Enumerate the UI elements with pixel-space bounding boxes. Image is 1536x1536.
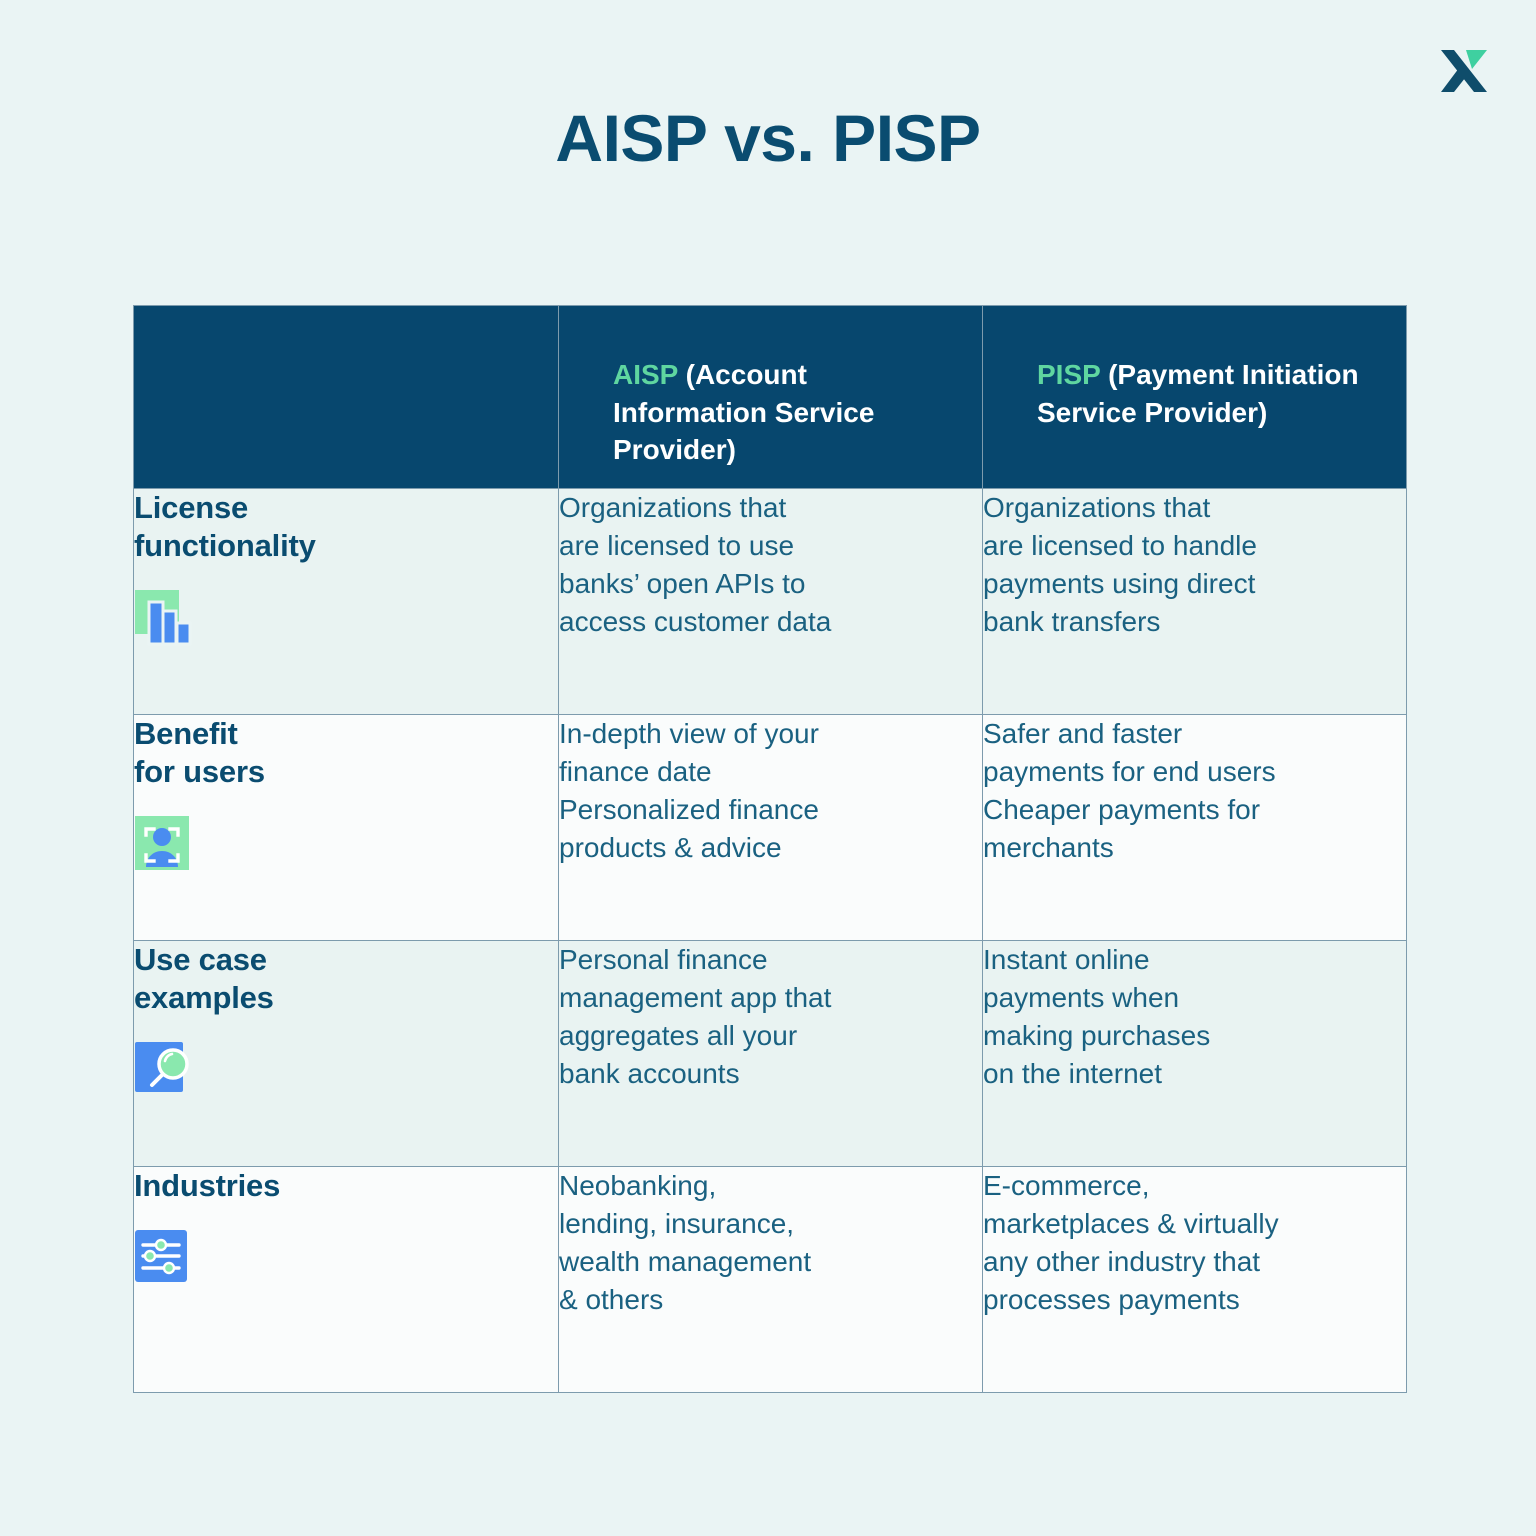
sliders-icon [134,1227,196,1289]
row-pisp-cell: Organizations that are licensed to handl… [983,489,1407,715]
page-title: AISP vs. PISP [0,104,1536,173]
row-pisp-text: Instant online payments when making purc… [983,941,1406,1093]
row-label: Use case examples [134,941,558,1017]
table-header: AISP (Account Information Service Provid… [134,306,1407,489]
row-label-cell: Use case examples [134,941,559,1167]
table-row: Use case examples Personal finance manag… [134,941,1407,1167]
row-label: License functionality [134,489,558,565]
header-cell-aisp: AISP (Account Information Service Provid… [559,306,983,489]
row-label: Industries [134,1167,558,1205]
row-aisp-cell: Organizations that are licensed to use b… [559,489,983,715]
header-aisp-text: AISP (Account Information Service Provid… [559,306,982,469]
magnifier-icon [134,1039,196,1101]
row-aisp-text: Personal finance management app that agg… [559,941,982,1093]
header-cell-blank [134,306,559,489]
row-pisp-text: Organizations that are licensed to handl… [983,489,1406,641]
row-pisp-cell: Instant online payments when making purc… [983,941,1407,1167]
table-row: Industries Neobanki [134,1167,1407,1393]
table-body: License functionality Organizations that… [134,489,1407,1393]
bar-chart-icon [134,587,196,649]
row-label-cell: Benefit for users [134,715,559,941]
row-pisp-cell: E-commerce, marketplaces & virtually any… [983,1167,1407,1393]
row-label-cell: License functionality [134,489,559,715]
row-aisp-text: Neobanking, lending, insurance, wealth m… [559,1167,982,1319]
row-aisp-text: Organizations that are licensed to use b… [559,489,982,641]
table-row: License functionality Organizations that… [134,489,1407,715]
row-pisp-cell: Safer and faster payments for end users … [983,715,1407,941]
header-pisp-abbr: PISP [1037,359,1100,390]
header-pisp-text: PISP (Payment Initiation Service Provide… [983,306,1406,431]
row-pisp-text: E-commerce, marketplaces & virtually any… [983,1167,1406,1319]
x-logo [1436,40,1492,96]
user-focus-icon [134,813,196,875]
header-aisp-abbr: AISP [613,359,678,390]
header-row: AISP (Account Information Service Provid… [134,306,1407,489]
row-aisp-text: In-depth view of your finance date Perso… [559,715,982,867]
row-aisp-cell: In-depth view of your finance date Perso… [559,715,983,941]
table-row: Benefit for users In-depth view of your … [134,715,1407,941]
row-aisp-cell: Personal finance management app that agg… [559,941,983,1167]
header-cell-pisp: PISP (Payment Initiation Service Provide… [983,306,1407,489]
row-aisp-cell: Neobanking, lending, insurance, wealth m… [559,1167,983,1393]
row-label: Benefit for users [134,715,558,791]
infographic-page: AISP vs. PISP AISP (Account Information … [0,0,1536,1536]
row-pisp-text: Safer and faster payments for end users … [983,715,1406,867]
row-label-cell: Industries [134,1167,559,1393]
comparison-table: AISP (Account Information Service Provid… [133,305,1407,1393]
